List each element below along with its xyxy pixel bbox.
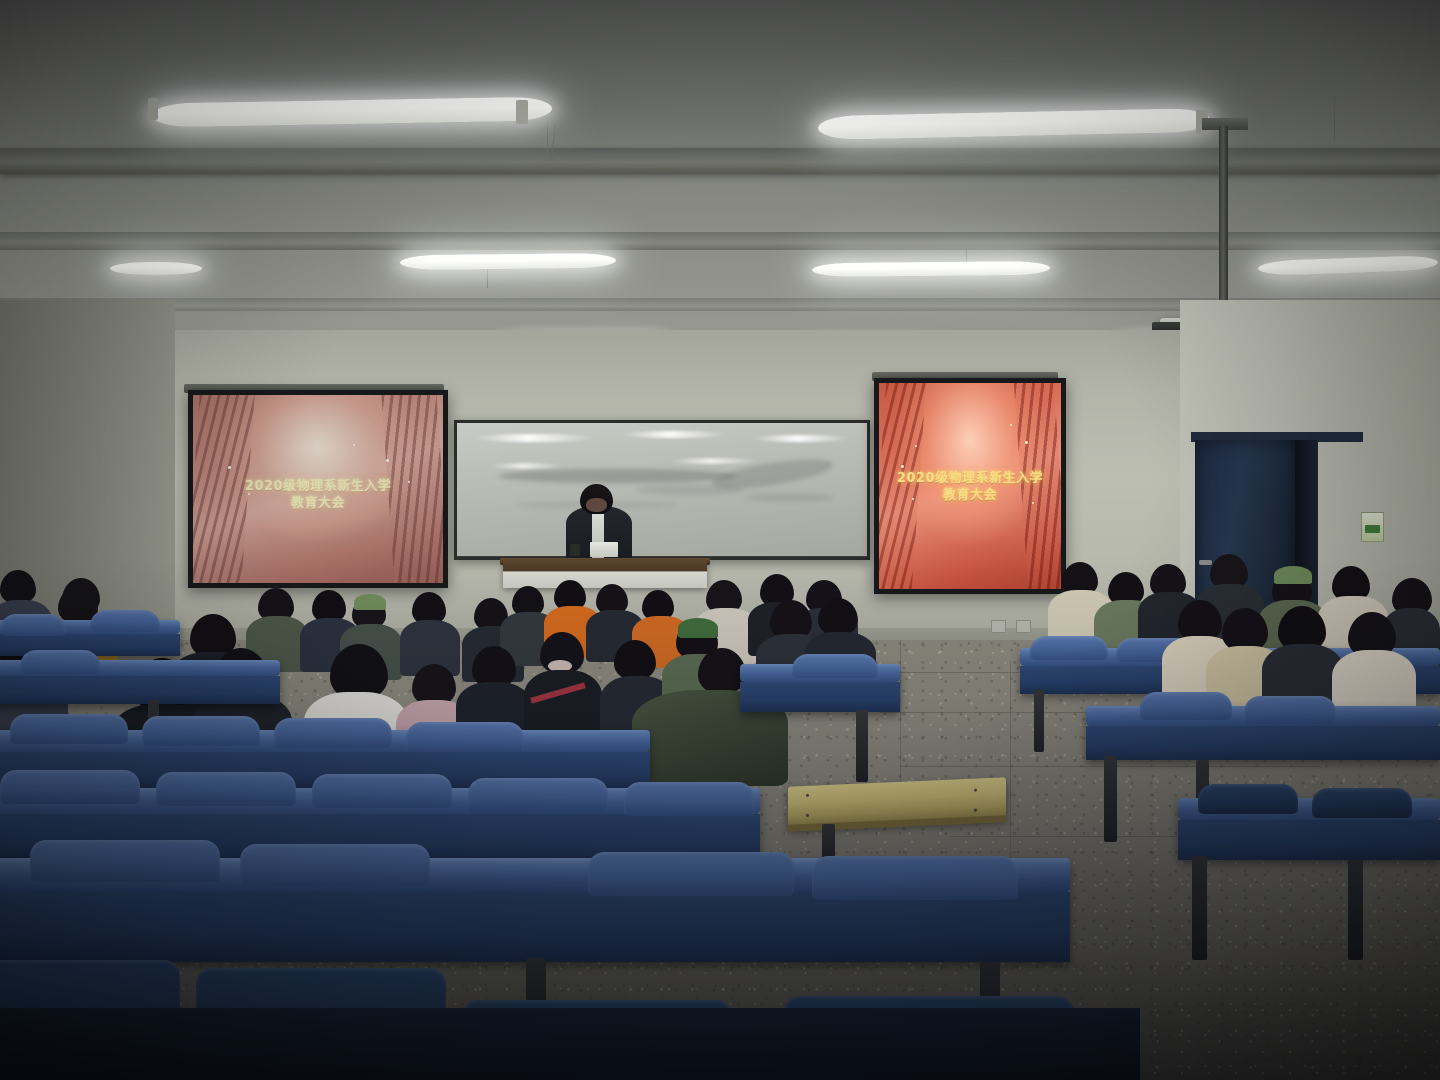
seat-back[interactable] <box>90 610 160 632</box>
seat-back[interactable] <box>156 772 296 806</box>
seat-back[interactable] <box>406 722 524 752</box>
right-slide-title: 2020级物理系新生入学 教育大会 <box>879 470 1061 504</box>
seat-back[interactable] <box>1312 788 1412 818</box>
right-projection-screen: 2020级物理系新生入学 教育大会 <box>874 378 1066 594</box>
seat-back[interactable] <box>1244 696 1336 724</box>
ceiling-light-tube <box>110 262 202 275</box>
seat-back[interactable] <box>20 650 100 674</box>
desk-leg <box>1034 690 1044 752</box>
seat-back[interactable] <box>588 852 794 896</box>
seat-back[interactable] <box>274 718 392 748</box>
lectern-microphone <box>570 544 580 556</box>
seat-back[interactable] <box>240 844 430 886</box>
emergency-exit-sign <box>1361 512 1384 542</box>
whiteboard-marker-tray <box>457 556 867 557</box>
lectern-paper <box>590 542 618 557</box>
student-head <box>698 648 746 694</box>
student-headwear <box>678 618 718 638</box>
seat-back[interactable] <box>624 782 754 816</box>
light-hanging-wire <box>1334 96 1335 140</box>
whiteboard-surface <box>457 423 867 557</box>
desk-leg <box>1192 856 1207 960</box>
wall-socket[interactable] <box>1016 620 1031 633</box>
student-headwear <box>354 594 386 610</box>
student-head <box>0 570 36 604</box>
right-slide-content: 2020级物理系新生入学 教育大会 <box>879 383 1061 589</box>
seat-back[interactable] <box>468 778 608 812</box>
exit-sign-glyph <box>1365 525 1380 533</box>
seat-back[interactable] <box>30 840 220 882</box>
left-slide-title: 2020级物理系新生入学 教育大会 <box>193 478 443 512</box>
student-headwear <box>1274 566 1312 584</box>
seat-back[interactable] <box>792 654 878 678</box>
seat-back[interactable] <box>312 774 452 808</box>
light-end-cap <box>516 100 528 124</box>
lectern <box>503 560 707 588</box>
desk-row-foreground[interactable] <box>0 1008 1140 1080</box>
wall-socket[interactable] <box>991 620 1006 633</box>
seat-back[interactable] <box>0 614 66 636</box>
desk-leg <box>1104 756 1117 842</box>
desk-leg <box>1348 860 1363 960</box>
floor-tile-line <box>1010 660 1011 880</box>
seat-back[interactable] <box>142 716 260 746</box>
light-end-cap <box>148 98 158 120</box>
seat-back[interactable] <box>1140 692 1232 720</box>
left-projection-screen: 2020级物理系新生入学 教育大会 <box>188 390 448 588</box>
projector-mount-pole <box>1219 126 1228 322</box>
student-head <box>818 598 858 636</box>
seat-back[interactable] <box>812 856 1018 900</box>
left-slide-content: 2020级物理系新生入学 教育大会 <box>193 395 443 583</box>
seat-back[interactable] <box>1030 636 1108 660</box>
ceiling-light-tube <box>812 261 1050 277</box>
ceiling-light-tube <box>400 253 616 270</box>
student-head <box>614 640 656 680</box>
seat-back[interactable] <box>10 714 128 744</box>
seat-back[interactable] <box>1198 784 1298 814</box>
light-hanging-wire <box>547 118 548 158</box>
whiteboard <box>454 420 870 560</box>
presenter-face <box>586 498 607 512</box>
desk-leg <box>856 710 868 782</box>
door-handle[interactable] <box>1199 560 1212 565</box>
lecture-hall-photo: 2020级物理系新生入学 教育大会 <box>0 0 1440 1080</box>
seat-back[interactable] <box>0 770 140 804</box>
